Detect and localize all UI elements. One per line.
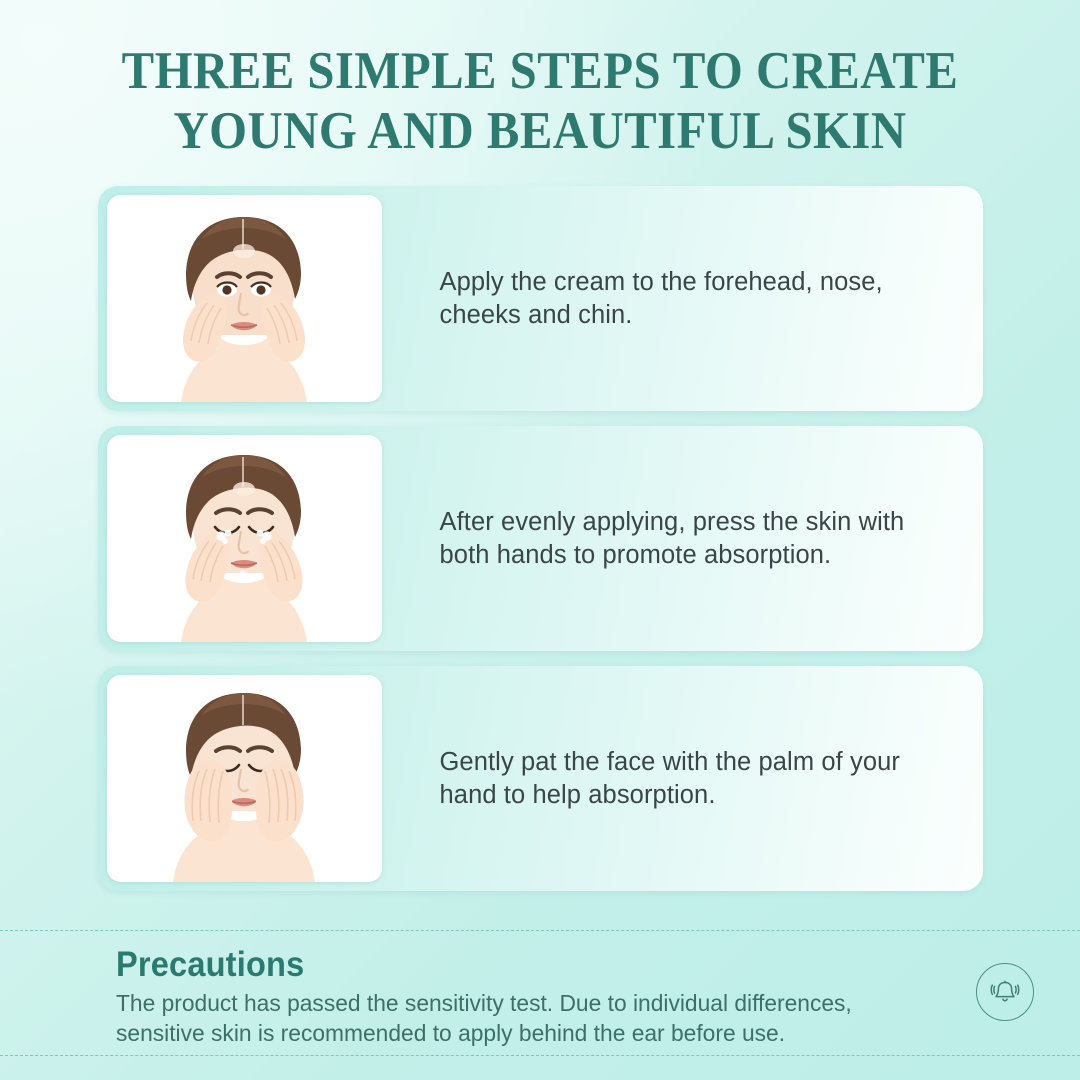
precautions-section: Precautions The product has passed the s… bbox=[0, 930, 1080, 1056]
step-image-1 bbox=[107, 195, 382, 402]
bell-icon bbox=[976, 963, 1034, 1021]
step-text: Gently pat the face with the palm of you… bbox=[440, 746, 940, 812]
title-line-2: YOUNG AND BEAUTIFUL SKIN bbox=[43, 104, 1037, 158]
title-line-1: THREE SIMPLE STEPS TO CREATE bbox=[43, 44, 1037, 98]
step-text: Apply the cream to the forehead, nose, c… bbox=[440, 266, 940, 332]
step-row: After evenly applying, press the skin wi… bbox=[98, 426, 983, 651]
step-image-3 bbox=[107, 675, 382, 882]
step-image-2 bbox=[107, 435, 382, 642]
precautions-line-2: sensitive skin is recommended to apply b… bbox=[116, 1018, 983, 1048]
steps-list: Apply the cream to the forehead, nose, c… bbox=[0, 186, 1080, 891]
precautions-heading: Precautions bbox=[116, 945, 947, 985]
step-text: After evenly applying, press the skin wi… bbox=[440, 506, 940, 572]
page-title: THREE SIMPLE STEPS TO CREATE YOUNG AND B… bbox=[0, 0, 1080, 158]
step-row: Gently pat the face with the palm of you… bbox=[98, 666, 983, 891]
step-row: Apply the cream to the forehead, nose, c… bbox=[98, 186, 983, 411]
precautions-line-1: The product has passed the sensitivity t… bbox=[116, 988, 983, 1018]
